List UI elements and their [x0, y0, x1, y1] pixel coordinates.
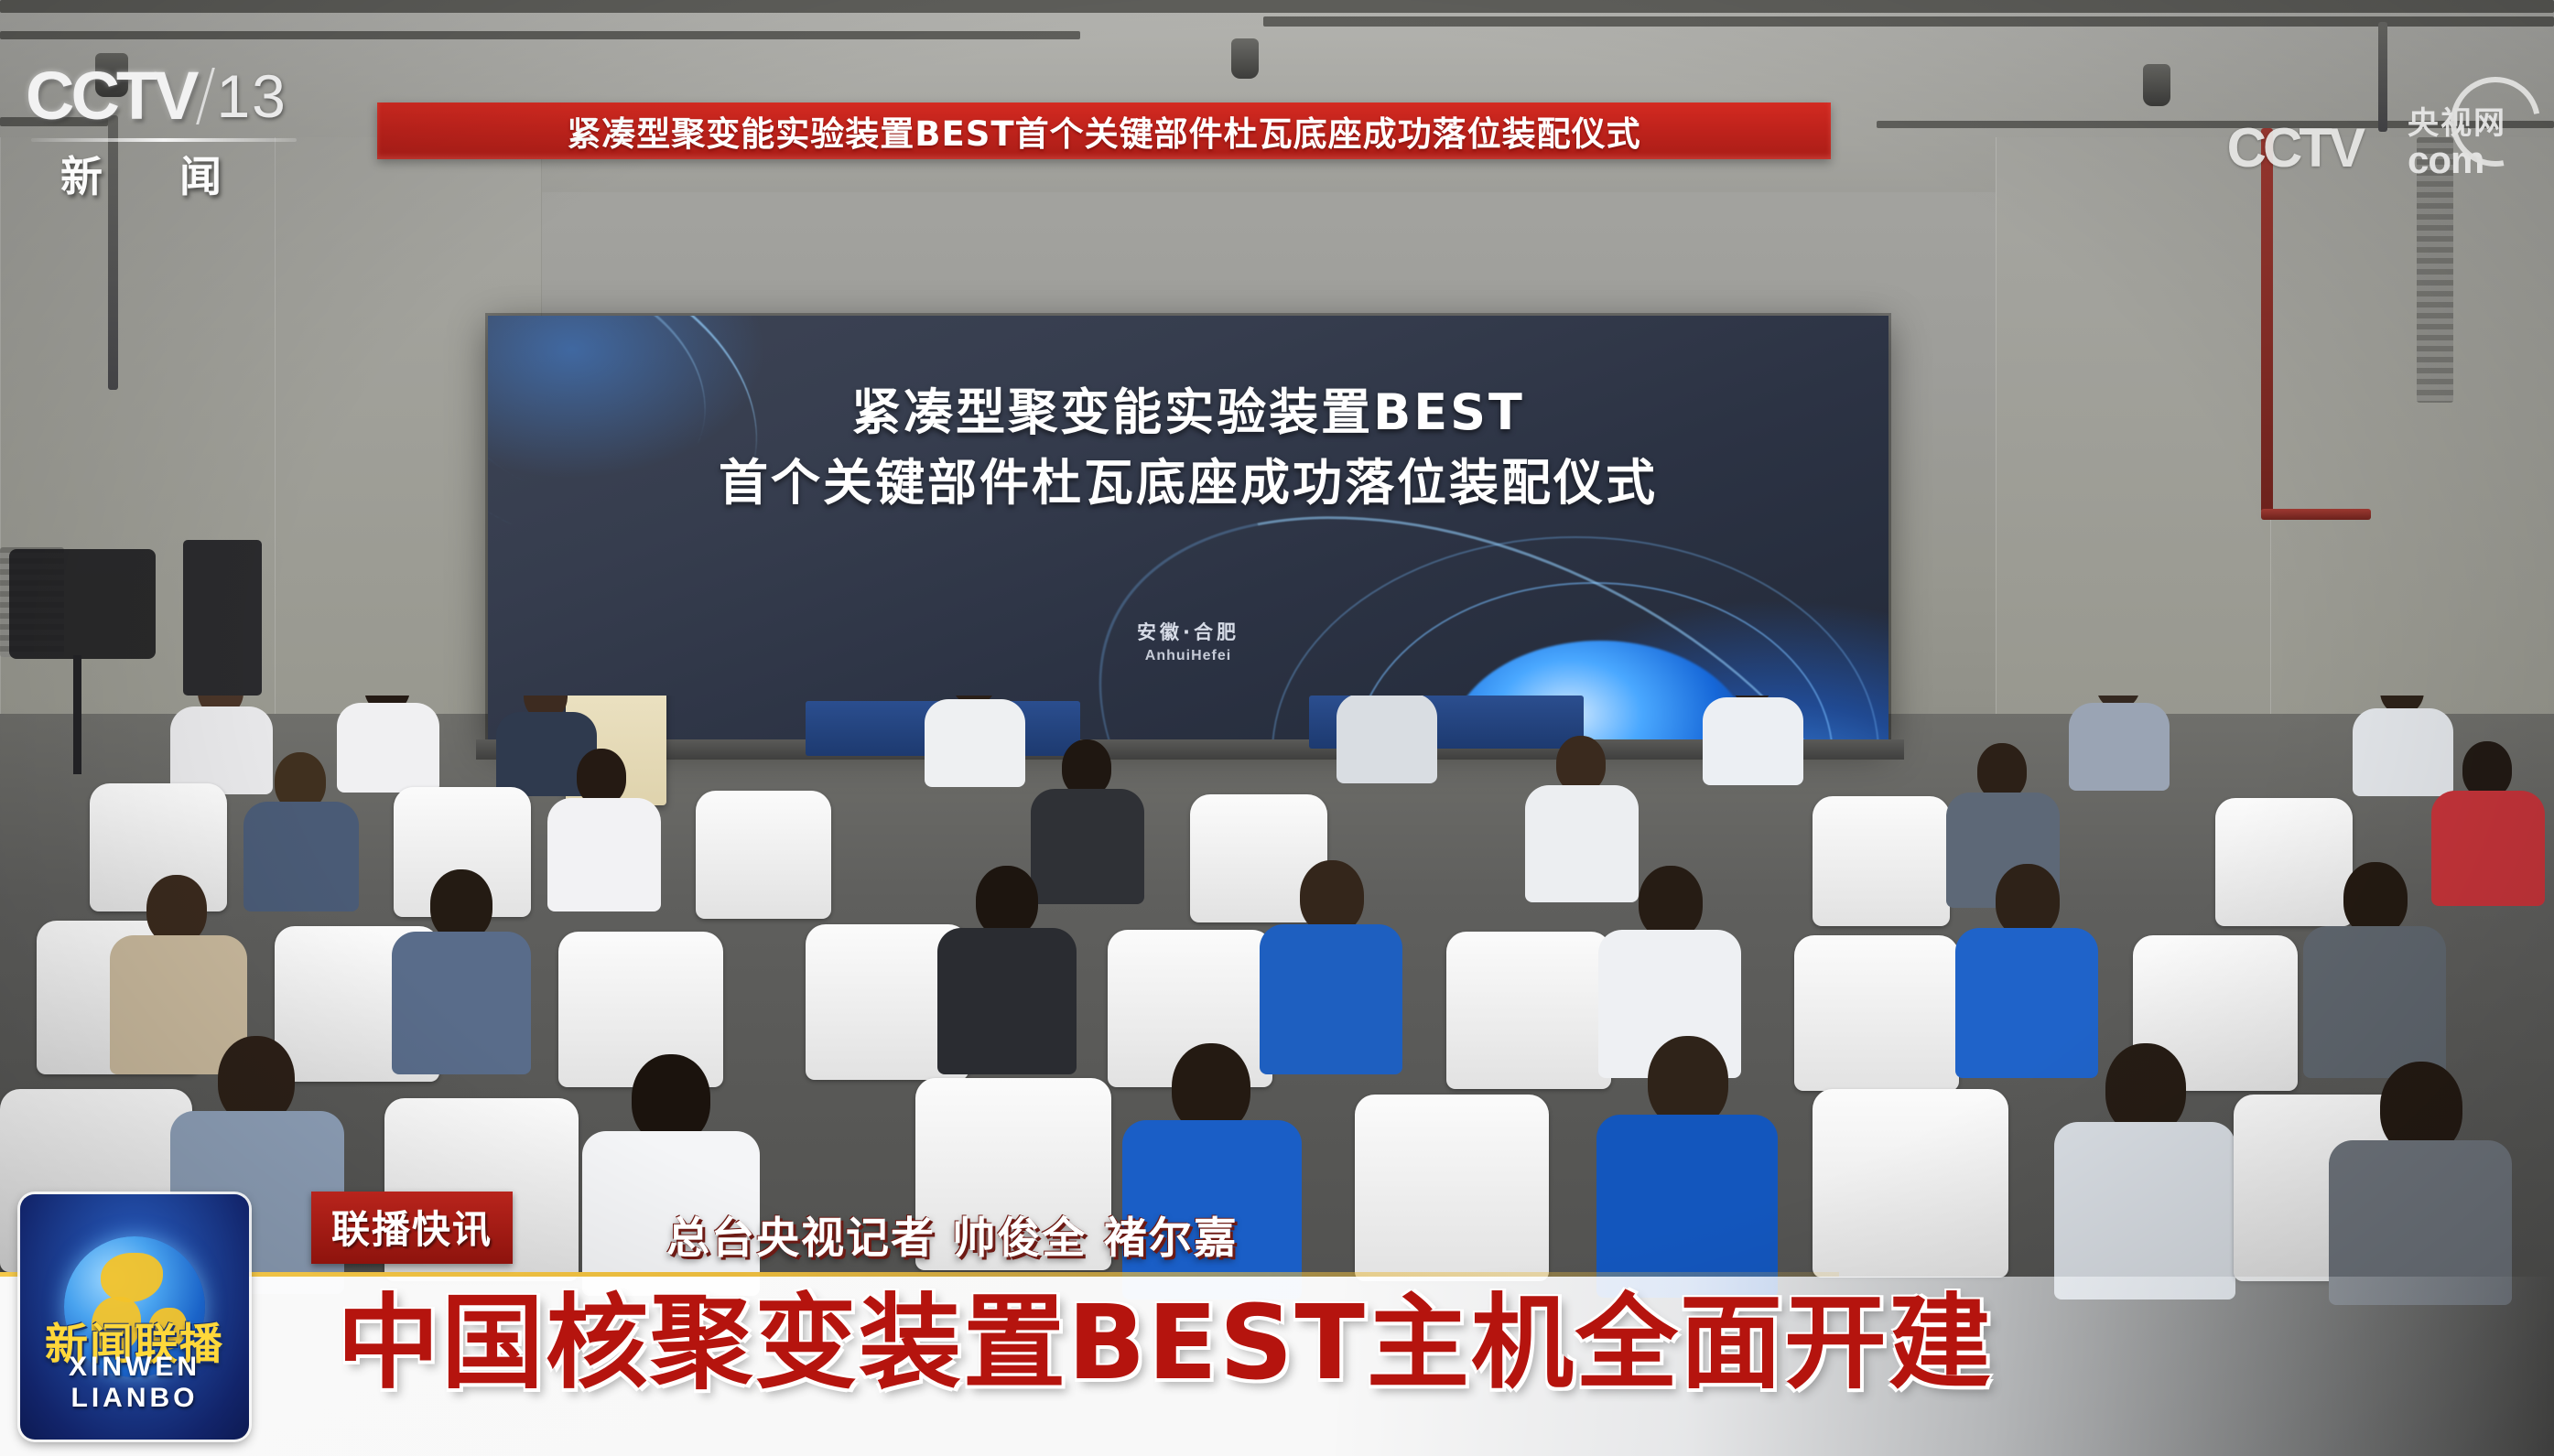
segment-tag: 联播快讯: [311, 1192, 513, 1264]
globe-landmass: [101, 1253, 163, 1302]
audience-head: [2105, 1043, 2186, 1135]
led-stage-screen: 紧凑型聚变能实验装置BEST 首个关键部件杜瓦底座成功落位装配仪式 安徽·合肥 …: [488, 316, 1888, 741]
audience-body: [1703, 697, 1803, 785]
camera-tripod: [73, 655, 81, 774]
fire-pipe: [2261, 509, 2371, 520]
chair: [696, 791, 831, 919]
fire-pipe: [2261, 128, 2273, 512]
audience-body: [337, 703, 439, 793]
program-logo: 新闻联播 XINWEN LIANBO: [20, 1194, 249, 1440]
hall-banner-text: 紧凑型聚变能实验装置BEST首个关键部件杜瓦底座成功落位装配仪式: [567, 106, 1640, 156]
audience-body: [1260, 924, 1402, 1074]
news-headline: 中国核聚变装置BEST主机全面开建: [337, 1260, 1993, 1408]
led-title: 紧凑型聚变能实验装置BEST 首个关键部件杜瓦底座成功落位装配仪式: [488, 378, 1888, 518]
chair: [2215, 798, 2353, 926]
hall-banner: 紧凑型聚变能实验装置BEST首个关键部件杜瓦底座成功落位装配仪式: [377, 102, 1831, 159]
led-title-line2: 首个关键部件杜瓦底座成功落位装配仪式: [488, 448, 1888, 519]
chair: [558, 932, 723, 1087]
audience-body: [547, 798, 661, 911]
audience-body: [1031, 789, 1144, 904]
audience-head: [577, 749, 626, 805]
reporter-credit: 总台央视记者 帅俊全 褚尔嘉: [666, 1203, 1239, 1266]
audience-head: [1639, 866, 1703, 939]
chair: [1794, 935, 1959, 1091]
audience-body: [243, 802, 359, 911]
ceiling-lamp: [2143, 64, 2170, 106]
broadcast-screenshot: 紧凑型聚变能实验装置BEST首个关键部件杜瓦底座成功落位装配仪式 紧凑型聚变能实…: [0, 0, 2554, 1456]
ceiling-lamp: [1231, 38, 1259, 79]
audience-body: [937, 928, 1077, 1074]
channel-bug: CCTV 13 新 闻: [26, 57, 297, 204]
audience-body: [2303, 926, 2446, 1078]
audience-head: [1996, 864, 2060, 937]
audience-head: [1062, 739, 1111, 796]
audience-head: [1977, 743, 2027, 800]
led-location-en: AnhuiHefei: [488, 648, 1888, 664]
audience-head: [2343, 862, 2408, 935]
camera-rig: [9, 549, 156, 659]
audience-head: [1556, 736, 1606, 793]
audience-body: [2353, 708, 2453, 796]
lower-third: 新闻联播 XINWEN LIANBO 联播快讯 总台央视记者 帅俊全 褚尔嘉 中…: [0, 1181, 2554, 1456]
led-location-cn: 安徽·合肥: [488, 618, 1888, 645]
led-location: 安徽·合肥 AnhuiHefei: [488, 618, 1888, 664]
program-logo-en: XINWEN LIANBO: [20, 1352, 249, 1414]
chair: [1813, 796, 1950, 926]
audience-head: [430, 869, 492, 941]
wall-panel: [2270, 137, 2554, 723]
audience-body: [925, 699, 1025, 787]
cctv-dot-com-watermark: CCTV 央视网 com: [2227, 108, 2506, 179]
chair: [1446, 932, 1611, 1089]
ceiling-beam: [1263, 16, 2554, 27]
audience-body: [1525, 785, 1639, 902]
audience-head: [976, 866, 1038, 937]
audience-head: [2462, 741, 2512, 798]
cctv-watermark-wordmark: CCTV: [2227, 116, 2362, 179]
audience-head: [146, 875, 207, 944]
audience-body: [1337, 696, 1437, 783]
bug-divider-icon: [197, 68, 216, 124]
audience-body: [2069, 703, 2170, 791]
audience-body: [170, 706, 273, 794]
ceiling-beam: [0, 0, 2554, 13]
wall-panel: [1996, 137, 2272, 723]
ceiling-beam: [0, 31, 1080, 39]
audience-head: [1648, 1036, 1728, 1127]
channel-name: 新 闻: [26, 144, 297, 204]
cctv-wordmark: CCTV: [26, 57, 195, 135]
speaker-stack: [183, 540, 262, 696]
led-title-line1: 紧凑型聚变能实验装置BEST: [488, 378, 1888, 448]
audience-body: [392, 932, 531, 1074]
audience-body: [2431, 791, 2545, 906]
audience-body: [1955, 928, 2098, 1078]
bug-rule: [31, 138, 297, 142]
channel-number: 13: [216, 61, 287, 131]
segment-tag-label: 联播快讯: [331, 1207, 492, 1252]
audience-head: [1300, 860, 1364, 933]
